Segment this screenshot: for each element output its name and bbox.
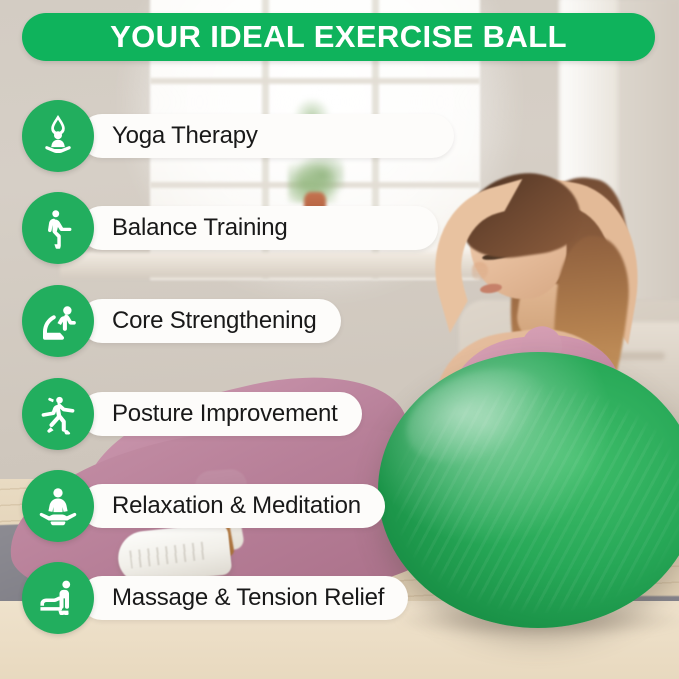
feature-label: Massage & Tension Relief	[112, 584, 384, 612]
massage-therapy-icon	[22, 562, 94, 634]
feature-label-pill: Balance Training	[80, 206, 438, 250]
meditation-lotus-icon	[22, 470, 94, 542]
core-crunch-icon	[22, 285, 94, 357]
infographic-canvas: YOUR IDEAL EXERCISE BALL Yoga Therapy	[0, 0, 679, 679]
feature-item-yoga-therapy[interactable]: Yoga Therapy	[22, 100, 454, 172]
posture-warrior-pose-icon	[22, 378, 94, 450]
feature-label-pill: Yoga Therapy	[80, 114, 454, 158]
feature-item-core-strengthening[interactable]: Core Strengthening	[22, 285, 341, 357]
feature-item-posture-improvement[interactable]: Posture Improvement	[22, 378, 362, 450]
feature-list: Yoga Therapy Balance Training	[0, 0, 679, 679]
feature-label-pill: Relaxation & Meditation	[80, 484, 385, 528]
feature-label: Relaxation & Meditation	[112, 492, 361, 520]
feature-item-relaxation-meditation[interactable]: Relaxation & Meditation	[22, 470, 385, 542]
balance-tree-pose-icon	[22, 192, 94, 264]
feature-item-massage-tension-relief[interactable]: Massage & Tension Relief	[22, 562, 408, 634]
feature-item-balance-training[interactable]: Balance Training	[22, 192, 438, 264]
feature-label-pill: Core Strengthening	[80, 299, 341, 343]
feature-label: Yoga Therapy	[112, 122, 258, 150]
yoga-lotus-arms-up-icon	[22, 100, 94, 172]
feature-label: Posture Improvement	[112, 400, 338, 428]
feature-label: Core Strengthening	[112, 307, 317, 335]
feature-label: Balance Training	[112, 214, 288, 242]
feature-label-pill: Posture Improvement	[80, 392, 362, 436]
feature-label-pill: Massage & Tension Relief	[80, 576, 408, 620]
